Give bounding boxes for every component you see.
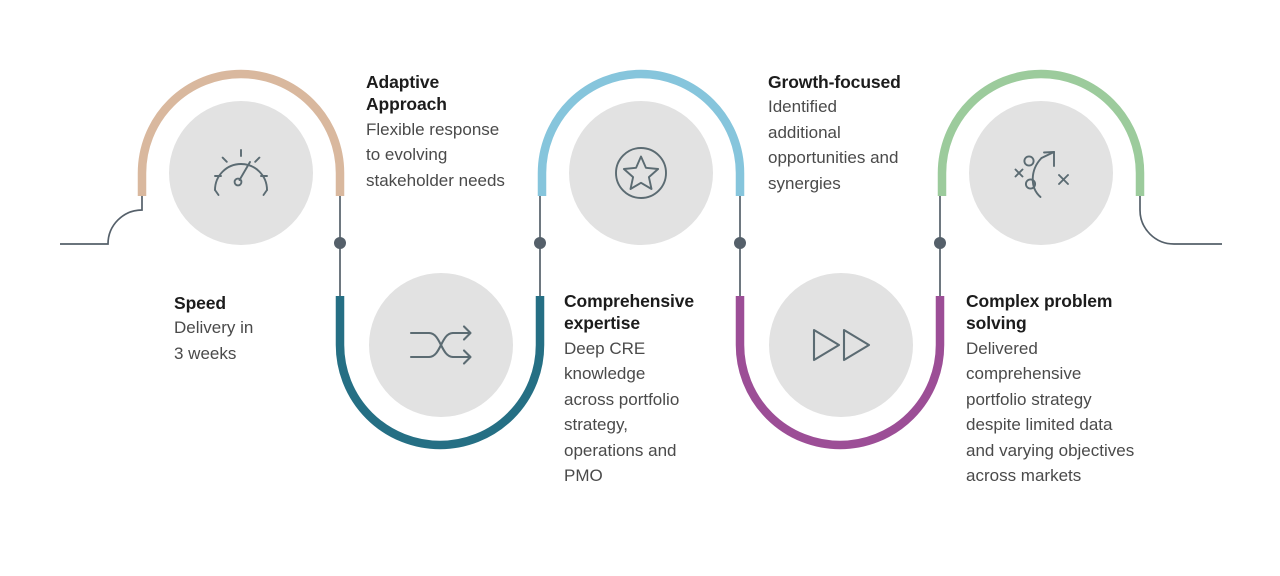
label-growth-focused-title: Growth-focused (768, 71, 940, 93)
label-comprehensive-expertise-desc: Deep CRE knowledge across portfolio stra… (564, 336, 716, 489)
label-adaptive: Adaptive Approach Flexible response to e… (366, 71, 532, 193)
label-growth-focused: Growth-focused Identified additional opp… (768, 71, 940, 196)
label-comprehensive-expertise: Comprehensive expertise Deep CRE knowled… (564, 290, 716, 489)
junction-dot-3 (734, 237, 746, 249)
label-complex-problem-solving: Complex problem solving Delivered compre… (966, 290, 1166, 489)
infographic-canvas: Speed Delivery in 3 weeks Adaptive Appro… (0, 0, 1280, 576)
junction-dot-1 (334, 237, 346, 249)
node-circle-speed (169, 101, 313, 245)
node-circle-compre (569, 101, 713, 245)
label-speed: Speed Delivery in 3 weeks (174, 292, 324, 366)
label-speed-title: Speed (174, 292, 324, 314)
label-complex-problem-solving-desc: Delivered comprehensive portfolio strate… (966, 336, 1166, 489)
label-adaptive-title: Adaptive Approach (366, 71, 532, 116)
path-tail-left (60, 196, 142, 244)
label-comprehensive-expertise-title: Comprehensive expertise (564, 290, 716, 335)
label-speed-desc: Delivery in 3 weeks (174, 315, 324, 366)
node-circle-growth (769, 273, 913, 417)
label-growth-focused-desc: Identified additional opportunities and … (768, 94, 940, 196)
label-complex-problem-solving-title: Complex problem solving (966, 290, 1166, 335)
node-circle-complex (969, 101, 1113, 245)
winding-path-graphic (0, 0, 1280, 576)
path-tail-right (1140, 196, 1222, 244)
junction-dot-4 (934, 237, 946, 249)
label-adaptive-desc: Flexible response to evolving stakeholde… (366, 117, 532, 194)
junction-dot-2 (534, 237, 546, 249)
